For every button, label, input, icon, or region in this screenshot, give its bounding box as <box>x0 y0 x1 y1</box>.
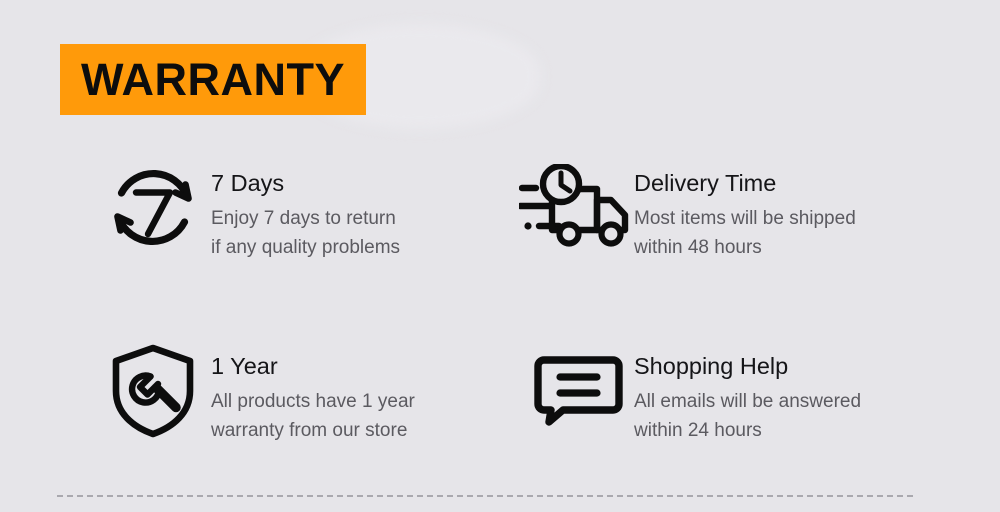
warranty-banner: WARRANTY <box>60 44 366 115</box>
shield-wrench-icon <box>95 343 211 439</box>
feature-7-days: 7 Days Enjoy 7 days to return if any qua… <box>95 160 400 263</box>
feature-desc-line-2: if any quality problems <box>211 233 400 262</box>
feature-text-block: 7 Days Enjoy 7 days to return if any qua… <box>211 160 400 263</box>
feature-desc-line-1: All emails will be answered <box>634 387 861 416</box>
feature-desc-line-1: Enjoy 7 days to return <box>211 204 400 233</box>
feature-desc-line-2: within 24 hours <box>634 416 861 445</box>
feature-desc-line-1: All products have 1 year <box>211 387 415 416</box>
banner-title: WARRANTY <box>81 57 345 102</box>
feature-text-block: Delivery Time Most items will be shipped… <box>634 160 856 263</box>
feature-title: Shopping Help <box>634 353 861 380</box>
feature-text-block: 1 Year All products have 1 year warranty… <box>211 343 415 446</box>
bottom-dashed-divider <box>57 495 913 497</box>
feature-title: Delivery Time <box>634 170 856 197</box>
feature-desc-line-2: within 48 hours <box>634 233 856 262</box>
delivery-truck-clock-icon <box>518 160 634 256</box>
feature-desc-line-1: Most items will be shipped <box>634 204 856 233</box>
feature-title: 7 Days <box>211 170 400 197</box>
feature-1-year: 1 Year All products have 1 year warranty… <box>95 343 415 446</box>
return-7-days-icon <box>95 160 211 256</box>
feature-desc-line-2: warranty from our store <box>211 416 415 445</box>
feature-text-block: Shopping Help All emails will be answere… <box>634 343 861 446</box>
feature-shopping-help: Shopping Help All emails will be answere… <box>518 343 861 446</box>
feature-title: 1 Year <box>211 353 415 380</box>
chat-bubble-icon <box>518 343 634 439</box>
feature-delivery-time: Delivery Time Most items will be shipped… <box>518 160 856 263</box>
features-grid: 7 Days Enjoy 7 days to return if any qua… <box>0 152 1000 482</box>
